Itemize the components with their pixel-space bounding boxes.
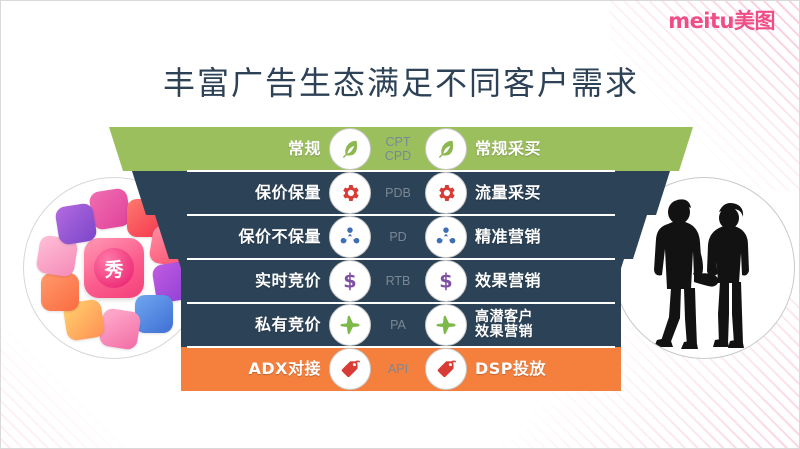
funnel-right-label: 精准营销 (467, 229, 621, 246)
funnel-code-label: PD (371, 230, 425, 244)
ad-product-funnel: 常规CPTCPD常规采买保价保量PDB流量采买保价不保量PD精准营销实时竞价$R… (1, 127, 799, 399)
page-title: 丰富广告生态满足不同客户需求 (1, 58, 799, 104)
price-tag-icon-left (329, 348, 371, 390)
funnel-left-label: 实时竞价 (181, 273, 329, 290)
dollar-icon-right: $ (425, 260, 467, 302)
funnel-code-label: API (371, 362, 425, 376)
airplane-icon-right (425, 304, 467, 346)
airplane-icon-left (329, 304, 371, 346)
funnel-right-label: 常规采买 (467, 141, 621, 158)
funnel-row-wing-r (610, 171, 690, 215)
funnel-left-label: 保价不保量 (181, 229, 329, 246)
feather-icon-right (425, 128, 467, 170)
dollar-icon-left: $ (329, 260, 371, 302)
funnel-left-label: 私有竞价 (181, 317, 329, 334)
funnel-code-label: RTB (371, 274, 425, 288)
network-icon-left (329, 216, 371, 258)
funnel-left-label: 常规 (181, 141, 329, 158)
funnel-code-label: CPTCPD (371, 135, 425, 163)
funnel-row[interactable]: 私有竞价PA高潜客户效果营销 (181, 303, 621, 347)
funnel-row[interactable]: 实时竞价$RTB$效果营销 (181, 259, 621, 303)
funnel-right-label: 流量采买 (467, 185, 621, 202)
funnel-row[interactable]: ADX对接APIDSP投放 (181, 347, 621, 391)
feather-icon-left (329, 128, 371, 170)
gear-icon-left (329, 172, 371, 214)
funnel-row-wing-r (621, 127, 701, 171)
funnel-row[interactable]: 保价不保量PD精准营销 (181, 215, 621, 259)
funnel-code-label: PDB (371, 186, 425, 200)
funnel-row[interactable]: 常规CPTCPD常规采买 (181, 127, 621, 171)
funnel-code-label: PA (371, 318, 425, 332)
funnel-right-label: 效果营销 (467, 273, 621, 290)
meitu-logo: meitu美图 (668, 11, 775, 32)
funnel-row-wing-l (112, 171, 192, 215)
price-tag-icon-right (425, 348, 467, 390)
funnel-left-label: ADX对接 (181, 361, 329, 378)
funnel-row-wing-l (101, 127, 181, 171)
svg-text:$: $ (343, 270, 356, 292)
funnel-right-label: DSP投放 (467, 361, 621, 378)
slide-canvas: meitu美图 丰富广告生态满足不同客户需求 秀 (1, 1, 799, 448)
network-icon-right (425, 216, 467, 258)
funnel-right-label: 高潜客户效果营销 (467, 310, 621, 339)
svg-text:$: $ (439, 270, 452, 292)
funnel-left-label: 保价保量 (181, 185, 329, 202)
funnel-row[interactable]: 保价保量PDB流量采买 (181, 171, 621, 215)
gear-icon-right (425, 172, 467, 214)
